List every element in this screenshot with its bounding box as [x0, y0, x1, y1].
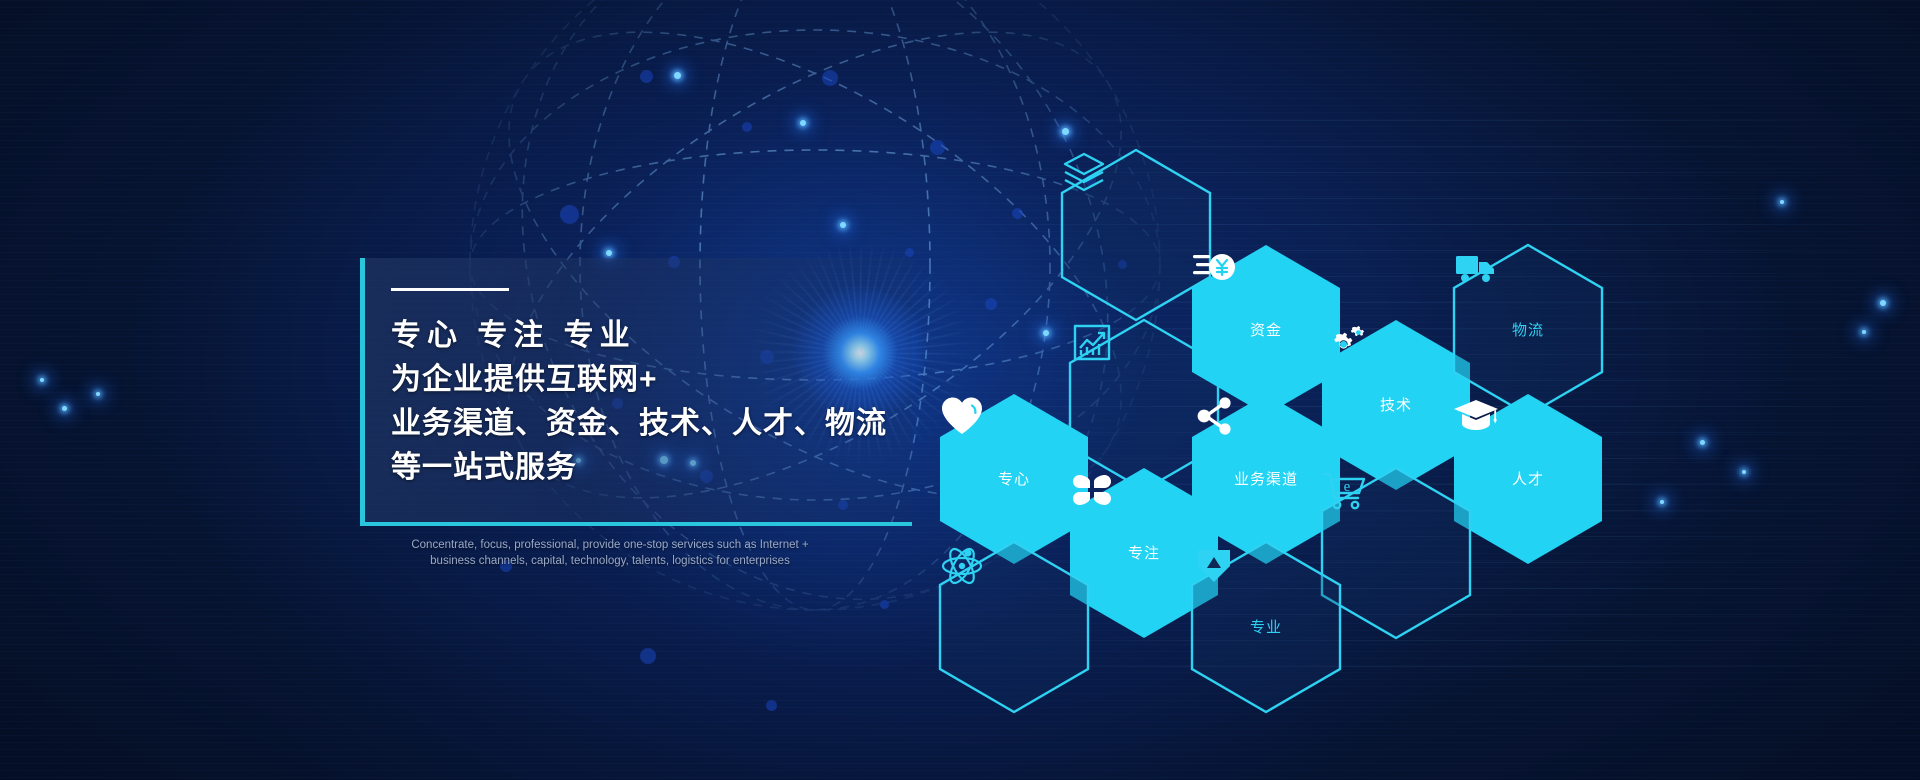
- clover-icon: [1068, 466, 1116, 514]
- diamond-gem-icon: [1190, 540, 1238, 588]
- hexagon-rencai[interactable]: 人才: [1452, 392, 1604, 566]
- truck-icon: [1452, 243, 1500, 291]
- chart-growth-icon: [1068, 318, 1116, 366]
- hexagon-wuliu[interactable]: 物流: [1452, 243, 1604, 417]
- share-nodes-icon: [1190, 392, 1238, 440]
- yen-money-icon: [1190, 243, 1238, 291]
- graduation-cap-icon: [1452, 392, 1500, 440]
- hexagon-label: 物流: [1512, 323, 1544, 338]
- heart-icon: [938, 392, 986, 440]
- layers-icon: [1060, 148, 1108, 196]
- hexagon-ecommerce-cart[interactable]: e: [1320, 466, 1472, 640]
- hexagon-cluster: 资金 技术: [0, 0, 1920, 780]
- hexagon-label: 专业: [1250, 620, 1282, 635]
- hexagon-label: 资金: [1250, 323, 1282, 338]
- svg-text:e: e: [1344, 479, 1351, 495]
- hexagon-label: 人才: [1512, 472, 1544, 487]
- hexagon-label: 专心: [998, 472, 1030, 487]
- hexagon-atom[interactable]: [938, 540, 1090, 714]
- hexagon-label: 专注: [1128, 546, 1160, 561]
- hexagon-label: 业务渠道: [1234, 472, 1298, 487]
- hexagon-zhuanye[interactable]: 专业: [1190, 540, 1342, 714]
- atom-icon: [938, 540, 986, 588]
- gears-icon: [1320, 318, 1368, 366]
- hexagon-label: 技术: [1380, 398, 1412, 413]
- shopping-cart-e-icon: e: [1320, 466, 1368, 514]
- hero-banner: 专心 专注 专业 为企业提供互联网+ 业务渠道、资金、技术、人才、物流 等一站式…: [0, 0, 1920, 780]
